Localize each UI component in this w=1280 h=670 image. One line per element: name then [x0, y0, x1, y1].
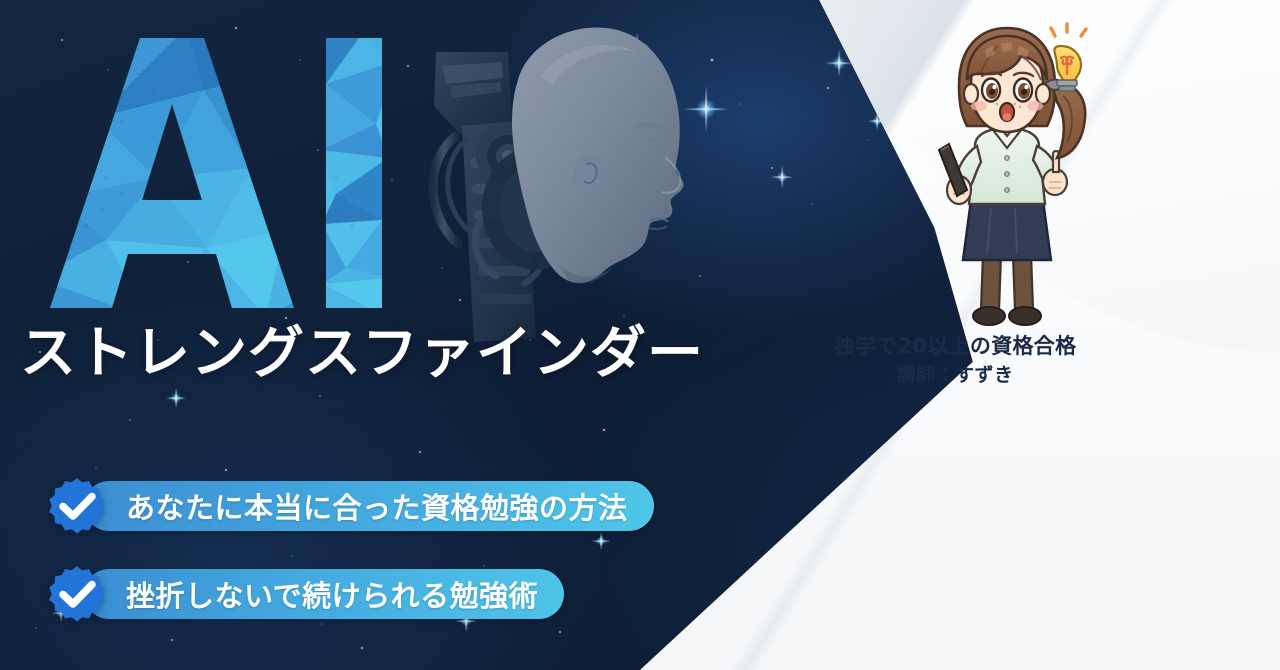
- instructor-credential: 独学で20以上の資格合格: [760, 333, 1150, 360]
- instructor-name: 講師：すずき: [760, 362, 1150, 389]
- check-badge-icon: [48, 565, 106, 623]
- feature-label: 挫折しないで続けられる勉強術: [84, 569, 564, 619]
- sparkle-star-icon: [876, 120, 878, 122]
- teacher-character-illustration: [905, 22, 1110, 334]
- check-badge-icon: [48, 477, 106, 535]
- page-title: ストレングスファインダー: [20, 322, 704, 386]
- banner-canvas: ストレングスファインダー 独学で20以上の資格合格 講師：すずき あなたに本当に…: [0, 0, 1280, 670]
- feature-item: 挫折しないで続けられる勉強術: [48, 565, 564, 623]
- ai-logo: [36, 28, 426, 318]
- instructor-block: 独学で20以上の資格合格 講師：すずき: [760, 333, 1150, 388]
- sparkle-star-icon: [600, 540, 602, 542]
- sparkle-star-icon: [838, 62, 840, 64]
- feature-label: あなたに本当に合った資格勉強の方法: [84, 481, 654, 531]
- feature-item: あなたに本当に合った資格勉強の方法: [48, 477, 654, 535]
- sparkle-star-icon: [175, 397, 177, 399]
- ai-logo-letter-i: [322, 28, 388, 318]
- sparkle-star-icon: [781, 176, 783, 178]
- android-head-illustration: [400, 8, 730, 348]
